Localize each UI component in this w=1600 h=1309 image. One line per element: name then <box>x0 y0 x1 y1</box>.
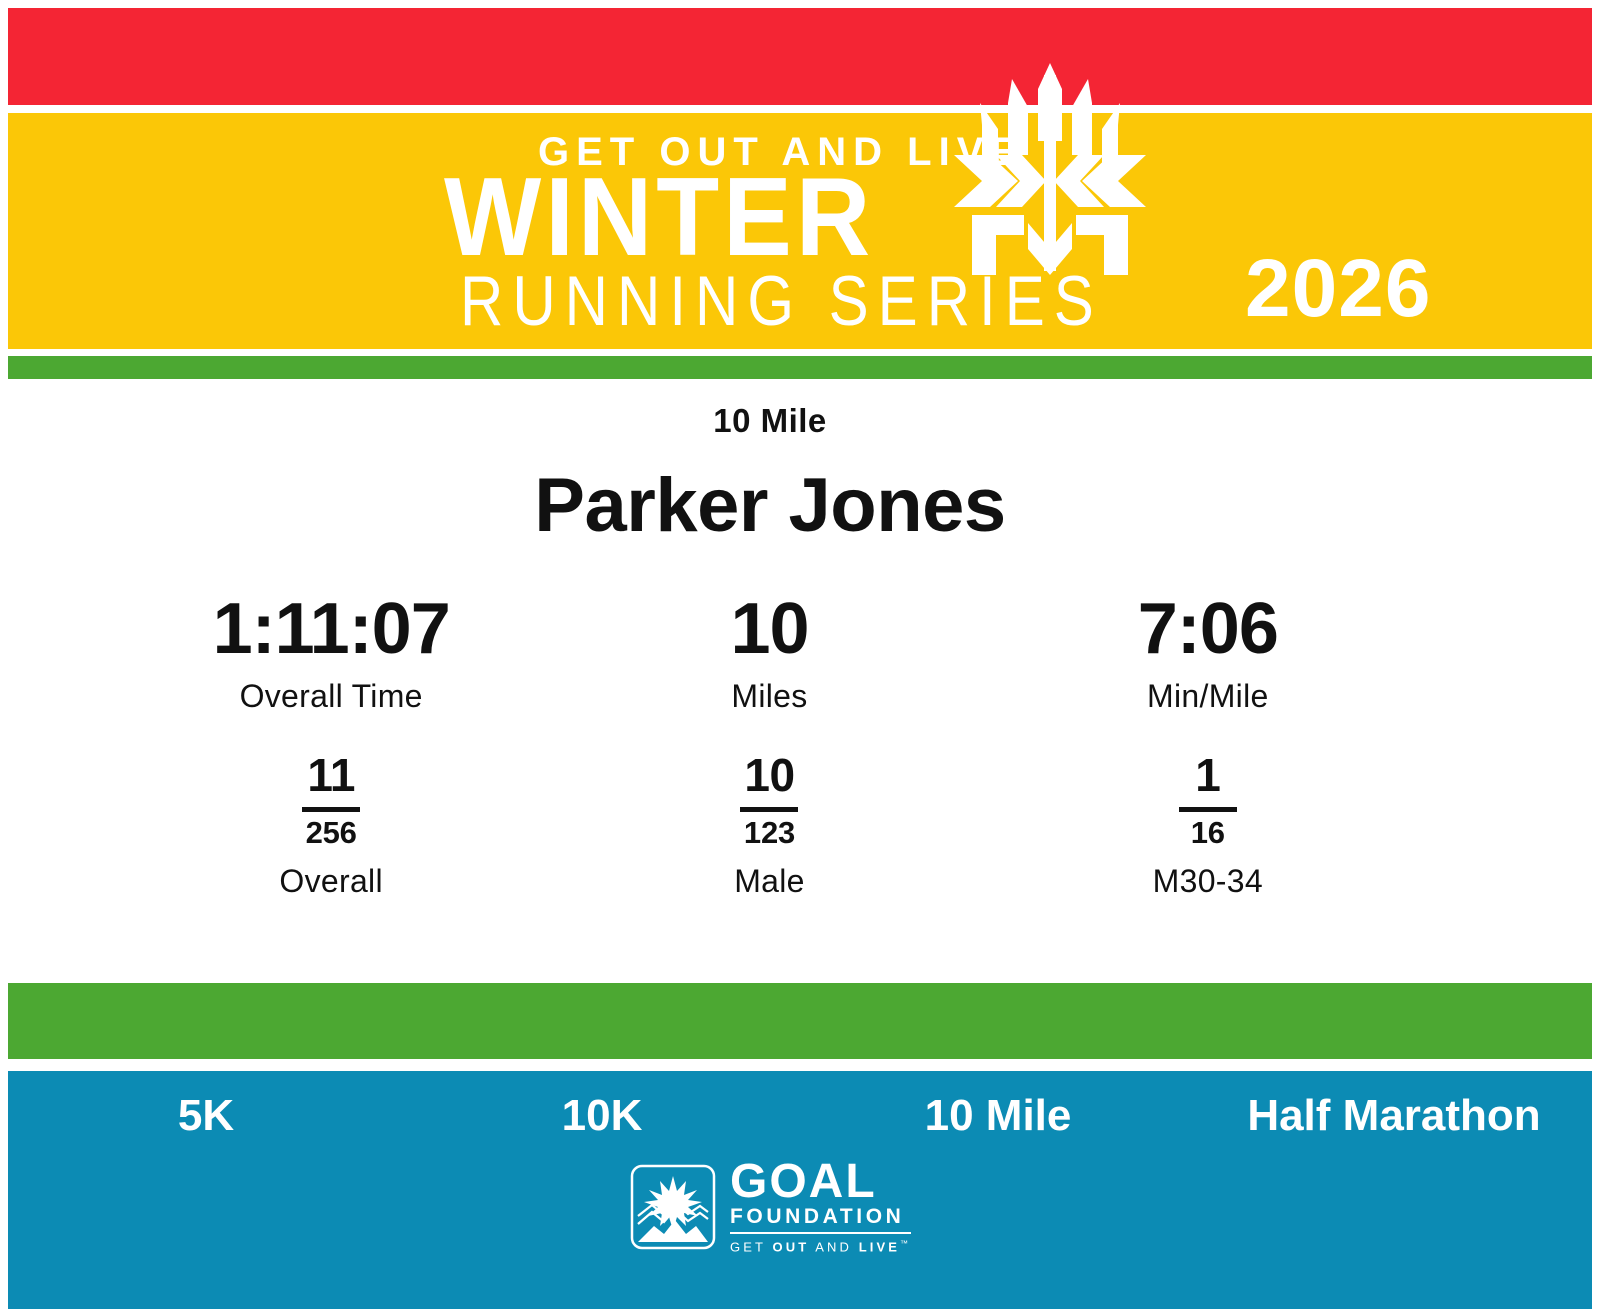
rank-divider-rule <box>302 807 360 812</box>
stat-label: Overall Time <box>112 678 550 715</box>
foundation-tagline-out: OUT <box>773 1240 810 1255</box>
stat-label: Miles <box>550 678 988 715</box>
rank-total: 16 <box>1191 817 1225 849</box>
foundation-tagline-and: AND <box>809 1240 858 1255</box>
foundation-subtitle: FOUNDATION <box>730 1205 911 1229</box>
rank-label: Male <box>734 863 805 900</box>
rank-age-group: 1 16 M30-34 <box>989 752 1427 900</box>
stat-value: 1:11:07 <box>112 592 550 666</box>
nav-item-half-marathon[interactable]: Half Marathon <box>1196 1091 1592 1141</box>
race-result-card: GET OUT AND LIVE WINTER RUNNING SERIES <box>0 0 1600 1309</box>
rank-male: 10 123 Male <box>550 752 988 900</box>
foundation-wordmark: GOAL FOUNDATION GET OUT AND LIVE™ <box>730 1159 911 1254</box>
stat-label: Min/Mile <box>989 678 1427 715</box>
rank-divider-rule <box>1179 807 1237 812</box>
stat-value: 7:06 <box>989 592 1427 666</box>
nav-item-10-mile[interactable]: 10 Mile <box>800 1091 1196 1141</box>
foundation-tagline-get: GET <box>730 1240 773 1255</box>
foundation-tagline-live: LIVE <box>859 1240 900 1255</box>
ranks-row: 11 256 Overall 10 123 Male 1 16 M30-34 <box>112 752 1427 900</box>
foundation-divider-rule <box>730 1232 911 1234</box>
stat-min-per-mile: 7:06 Min/Mile <box>989 592 1427 715</box>
rank-divider-rule <box>740 807 798 812</box>
rank-total: 123 <box>744 817 795 849</box>
foundation-tagline: GET OUT AND LIVE™ <box>730 1237 911 1254</box>
divider-green-band-top <box>8 356 1592 379</box>
runner-name: Parker Jones <box>0 466 1540 546</box>
nav-item-10k[interactable]: 10K <box>404 1091 800 1141</box>
stats-row: 1:11:07 Overall Time 10 Miles 7:06 Min/M… <box>112 592 1427 715</box>
foundation-tagline-tm: ™ <box>900 1239 911 1248</box>
race-distance-label: 10 Mile <box>0 402 1540 440</box>
event-year: 2026 <box>1245 248 1431 330</box>
rank-overall: 11 256 Overall <box>112 752 550 900</box>
stat-miles: 10 Miles <box>550 592 988 715</box>
rank-place: 11 <box>307 752 355 798</box>
rank-place: 10 <box>744 752 794 798</box>
foundation-name: GOAL <box>730 1159 911 1205</box>
event-title-winter: WINTER <box>444 161 874 272</box>
event-logo-lockup: GET OUT AND LIVE WINTER RUNNING SERIES <box>430 118 1170 348</box>
header-red-band <box>8 8 1592 105</box>
snowflake-icon <box>950 63 1150 278</box>
rank-label: Overall <box>279 863 382 900</box>
divider-green-band-bottom <box>8 983 1592 1059</box>
rank-total: 256 <box>306 817 357 849</box>
stat-overall-time: 1:11:07 Overall Time <box>112 592 550 715</box>
goal-foundation-logo[interactable]: GOAL FOUNDATION GET OUT AND LIVE™ <box>630 1152 950 1262</box>
rank-place: 1 <box>1195 752 1220 798</box>
mountain-sunburst-icon <box>630 1164 716 1250</box>
rank-label: M30-34 <box>1153 863 1263 900</box>
nav-item-5k[interactable]: 5K <box>8 1091 404 1141</box>
stat-value: 10 <box>550 592 988 666</box>
